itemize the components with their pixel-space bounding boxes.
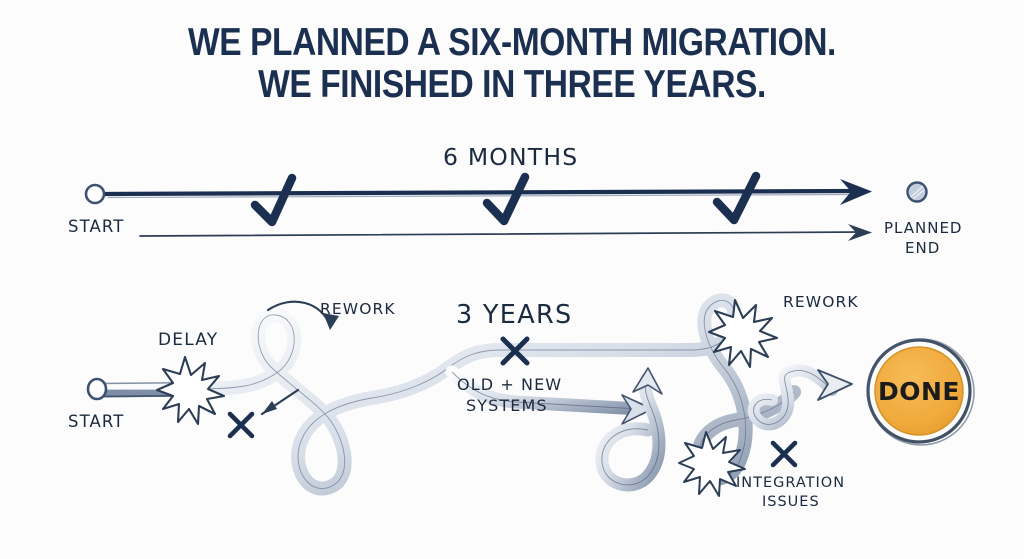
- delay-starburst-icon: [157, 357, 224, 424]
- integration-issues-label-line2: ISSUES: [762, 494, 820, 510]
- rework-2-label: REWORK: [783, 293, 859, 311]
- x-near-start-pointer-arrow: [262, 390, 298, 414]
- planned-checkpoint-2: [487, 177, 525, 221]
- planned-end-label-line1: PLANNED: [884, 219, 962, 237]
- delay-label: DELAY: [158, 330, 218, 350]
- old-new-systems-label-line2: SYSTEMS: [466, 396, 548, 415]
- actual-path-loop-mid-right: [602, 368, 662, 485]
- diagram-svg: 6 MONTHS START PLANNED END: [0, 0, 1024, 559]
- planned-end-marker: [908, 183, 927, 202]
- planned-checkpoint-3: [717, 176, 756, 220]
- x-near-start-icon: [230, 414, 252, 436]
- actual-duration-label: 3 YEARS: [456, 300, 572, 330]
- actual-start-marker: [88, 379, 106, 399]
- sketch-diagram-canvas: WE PLANNED A SIX-MONTH MIGRATION. WE FIN…: [0, 0, 1024, 559]
- planned-timeline-secondary-line: [140, 224, 872, 241]
- planned-start-label: START: [68, 217, 124, 236]
- planned-start-marker: [86, 185, 104, 203]
- done-badge-label: DONE: [878, 377, 960, 406]
- integration-issues-label-line1: INTEGRATION: [736, 475, 845, 491]
- done-badge[interactable]: DONE: [868, 339, 974, 445]
- actual-path-group: DELAY REWORK 3 YEARS OLD + NEW SYS: [68, 293, 974, 510]
- old-new-systems-label-line1: OLD + NEW: [457, 375, 562, 394]
- integration-issues-x-icon: [773, 443, 795, 465]
- planned-end-label-line2: END: [905, 239, 940, 257]
- planned-duration-label: 6 MONTHS: [443, 143, 578, 171]
- planned-checkpoint-1: [255, 178, 292, 222]
- planned-timeline-group: 6 MONTHS START PLANNED END: [68, 143, 962, 257]
- actual-start-label: START: [68, 412, 124, 431]
- rework-1-label: REWORK: [320, 300, 396, 318]
